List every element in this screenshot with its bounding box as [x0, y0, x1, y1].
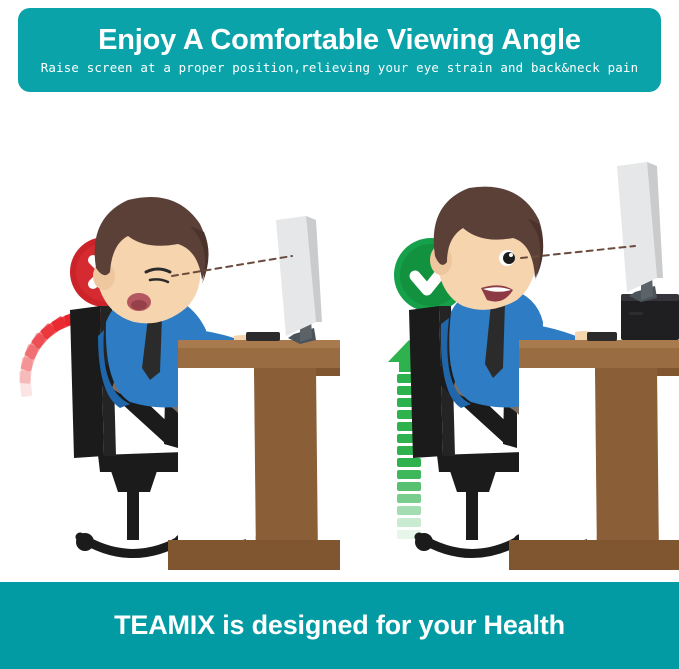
keyboard-bad [246, 332, 280, 341]
illustration-area [0, 100, 679, 570]
brand-tagline: TEAMIX is designed for your Health [114, 610, 565, 641]
desk-top-good [509, 340, 679, 570]
desk-top-bad [168, 340, 340, 570]
header-banner: Enjoy A Comfortable Viewing Angle Raise … [18, 8, 661, 92]
footer-banner: TEAMIX is designed for your Health [0, 582, 679, 669]
scene-bad-posture [0, 100, 340, 570]
page-subtitle: Raise screen at a proper position,reliev… [41, 60, 638, 75]
page-title: Enjoy A Comfortable Viewing Angle [98, 25, 581, 55]
monitor-riser-stand [621, 294, 679, 340]
monitor-low [276, 216, 322, 344]
scene-good-posture [339, 100, 679, 570]
keyboard-good [587, 332, 617, 341]
monitor-raised [617, 162, 663, 302]
infographic-page: Enjoy A Comfortable Viewing Angle Raise … [0, 0, 679, 669]
